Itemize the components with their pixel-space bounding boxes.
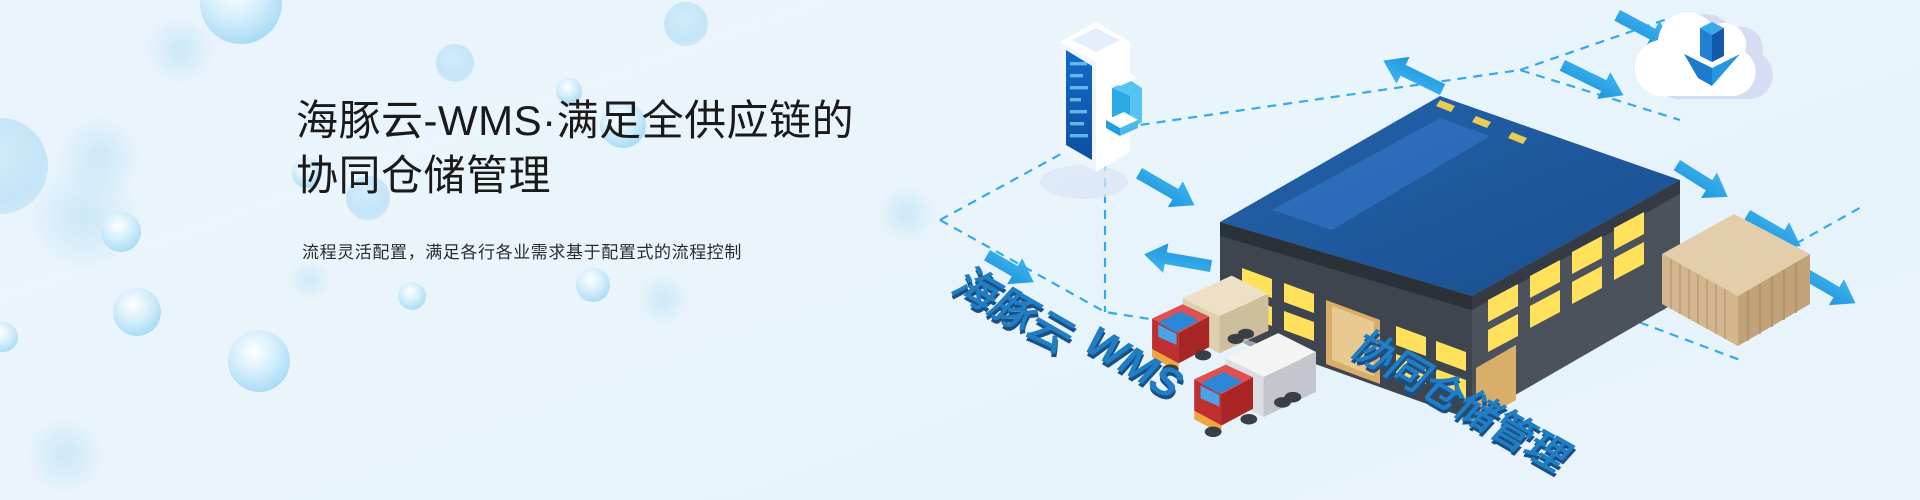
bubble-decoration bbox=[576, 268, 610, 302]
bubble-decoration bbox=[436, 44, 474, 82]
flow-arrow bbox=[1132, 160, 1202, 218]
server-rack-icon bbox=[1040, 22, 1142, 199]
bubble-decoration bbox=[292, 262, 328, 298]
bubble-decoration bbox=[398, 282, 426, 310]
bubble-decoration bbox=[0, 322, 18, 352]
bubble-decoration bbox=[113, 288, 161, 336]
hero-banner: 海豚云-WMS·满足全供应链的 协同仓储管理 流程灵活配置，满足各行各业需求基于… bbox=[0, 0, 1920, 500]
flow-arrow bbox=[1377, 47, 1449, 103]
cloud-download-icon bbox=[1635, 12, 1773, 99]
page-title: 海豚云-WMS·满足全供应链的 协同仓储管理 bbox=[296, 94, 956, 203]
bubble-decoration bbox=[640, 276, 686, 322]
hero-copy: 海豚云-WMS·满足全供应链的 协同仓储管理 流程灵活配置，满足各行各业需求基于… bbox=[296, 94, 956, 266]
bubble-decoration bbox=[101, 212, 141, 252]
bubble-decoration bbox=[150, 20, 210, 80]
hero-illustration: 海豚云 海豚云 WMS WMS 协同仓储管理 协同仓储管理 bbox=[880, 0, 1920, 500]
bubble-decoration bbox=[228, 330, 290, 392]
bubble-decoration bbox=[200, 0, 282, 44]
bubble-decoration bbox=[664, 2, 708, 46]
bubble-decoration bbox=[30, 420, 100, 490]
page-subtitle: 流程灵活配置，满足各行各业需求基于配置式的流程控制 bbox=[302, 239, 956, 266]
flow-arrow bbox=[1141, 240, 1213, 281]
